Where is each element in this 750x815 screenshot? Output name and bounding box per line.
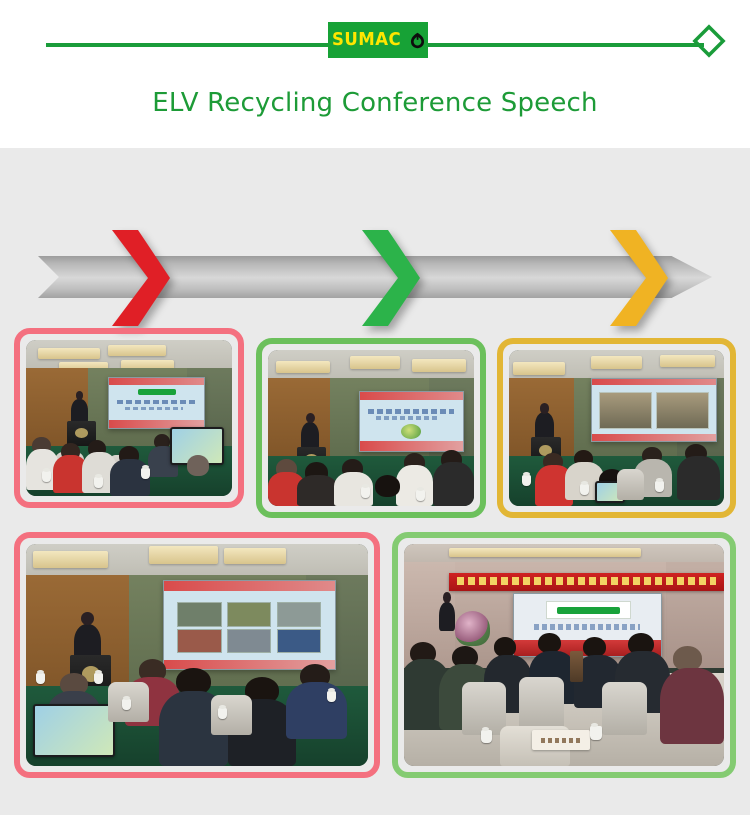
process-arrow-band (0, 178, 750, 318)
page-title: ELV Recycling Conference Speech (0, 88, 750, 118)
sumac-logo-badge: SUMAC (328, 22, 428, 58)
page-header: SUMAC ELV Recycling Conference Speech (0, 0, 750, 148)
photo-presenter-green-slide (256, 338, 486, 518)
chevron-step-1 (108, 230, 170, 326)
photo-conference-hall-banner (392, 532, 736, 778)
photo-speaker-podium-audience (14, 328, 244, 508)
photo-equipment-slide-wide (14, 532, 380, 778)
sumac-wordmark: SUMAC (332, 31, 401, 49)
photo-gallery (0, 328, 750, 808)
photo-factory-slide (497, 338, 736, 518)
diamond-outline-icon-right (695, 27, 723, 55)
chevron-step-3 (606, 230, 668, 326)
power-button-icon (408, 31, 427, 50)
chevron-step-2 (358, 230, 420, 326)
content-area (0, 148, 750, 815)
